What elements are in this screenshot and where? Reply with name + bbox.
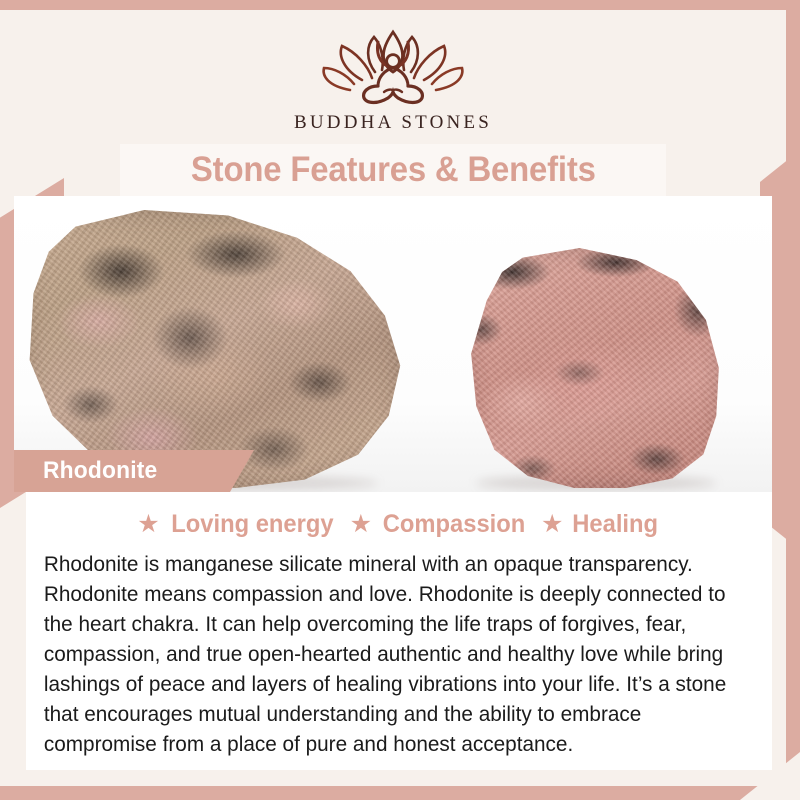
- star-icon: ★: [541, 512, 563, 537]
- brand-header: BUDDHA STONES: [0, 10, 786, 150]
- benefits-row: ★ Loving energy ★ Compassion ★ Healing: [40, 510, 758, 539]
- stone-name-label: Rhodonite: [43, 457, 157, 485]
- star-icon: ★: [137, 512, 159, 537]
- title-banner: Stone Features & Benefits: [120, 144, 666, 196]
- benefit-item-compassion: ★ Compassion: [350, 510, 529, 539]
- benefit-label: Healing: [573, 510, 659, 539]
- content-panel: ★ Loving energy ★ Compassion ★ Healing R…: [26, 492, 772, 770]
- benefit-label: Loving energy: [171, 510, 333, 539]
- star-icon: ★: [350, 512, 372, 537]
- benefit-label: Compassion: [383, 510, 526, 539]
- stone-name-badge: Rhodonite: [14, 450, 254, 492]
- page-title: Stone Features & Benefits: [191, 150, 596, 190]
- lotus-meditation-figure-icon: [318, 28, 468, 106]
- stone-photo: [14, 196, 772, 492]
- frame-band-bottom: [0, 786, 800, 800]
- benefit-item-healing: ★ Healing: [541, 510, 661, 539]
- stone-description: Rhodonite is manganese silicate mineral …: [40, 549, 733, 759]
- brand-name: BUDDHA STONES: [294, 112, 492, 134]
- benefit-item-loving-energy: ★ Loving energy: [137, 510, 337, 539]
